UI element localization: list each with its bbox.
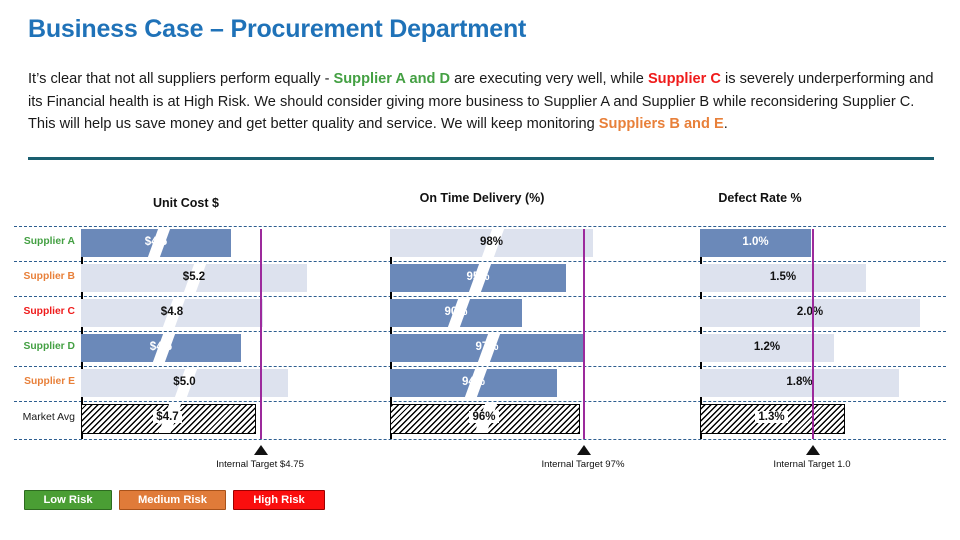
bar-value-2-1: 1.5%	[700, 271, 866, 283]
target-marker-1	[577, 445, 591, 455]
row-label-market-avg: Market Avg	[14, 411, 75, 423]
panel-title-2: Defect Rate %	[640, 191, 880, 205]
bar-value-2-2: 2.0%	[700, 306, 920, 318]
bar-value-1-3: 97%	[390, 341, 584, 353]
bar-value-0-1: $5.2	[81, 271, 307, 283]
bar-value-0-5: $4.7	[81, 411, 254, 423]
target-line-1	[583, 229, 585, 439]
bar-value-1-4: 94%	[390, 376, 557, 388]
gridline-row-5	[14, 401, 946, 402]
gridline-row-0	[14, 226, 946, 227]
bar-value-text: 1.3%	[755, 411, 787, 423]
slide-root: Business Case – Procurement Department I…	[0, 0, 960, 540]
gridline-row-3	[14, 331, 946, 332]
gridline-row-1	[14, 261, 946, 262]
chart-grid: Supplier ASupplier BSupplier CSupplier D…	[0, 0, 960, 540]
target-marker-2	[806, 445, 820, 455]
panel-title-0: Unit Cost $	[66, 196, 306, 210]
target-label-0: Internal Target $4.75	[150, 459, 370, 470]
legend-chip-high-risk[interactable]: High Risk	[233, 490, 325, 510]
bar-value-2-5: 1.3%	[700, 411, 843, 423]
legend-chip-low-risk[interactable]: Low Risk	[24, 490, 112, 510]
bar-value-1-5: 96%	[390, 411, 578, 423]
bar-value-1-0: 98%	[390, 236, 593, 248]
legend-chip-medium-risk[interactable]: Medium Risk	[119, 490, 226, 510]
bar-value-1-1: 95%	[390, 271, 566, 283]
target-label-2: Internal Target 1.0	[702, 459, 922, 470]
bar-value-0-4: $5.0	[81, 376, 288, 388]
bar-value-2-3: 1.2%	[700, 341, 834, 353]
gridline-row-2	[14, 296, 946, 297]
bar-value-text: 96%	[469, 411, 498, 423]
bar-value-1-2: 90%	[390, 306, 522, 318]
target-marker-0	[254, 445, 268, 455]
panel-title-1: On Time Delivery (%)	[362, 191, 602, 205]
row-label-supplier-e: Supplier E	[14, 376, 75, 387]
bar-value-2-0: 1.0%	[700, 236, 811, 248]
target-label-1: Internal Target 97%	[473, 459, 693, 470]
gridline-row-6	[14, 439, 946, 440]
bar-value-0-0: $4.5	[81, 236, 231, 248]
bar-value-text: $4.7	[153, 411, 181, 423]
target-line-2	[812, 229, 814, 439]
row-label-supplier-b: Supplier B	[14, 271, 75, 282]
bar-value-0-3: $4.6	[81, 341, 241, 353]
row-label-supplier-d: Supplier D	[14, 341, 75, 352]
row-label-supplier-a: Supplier A	[14, 236, 75, 247]
bar-value-2-4: 1.8%	[700, 376, 899, 388]
target-line-0	[260, 229, 262, 439]
row-label-supplier-c: Supplier C	[14, 306, 75, 317]
gridline-row-4	[14, 366, 946, 367]
bar-value-0-2: $4.8	[81, 306, 263, 318]
